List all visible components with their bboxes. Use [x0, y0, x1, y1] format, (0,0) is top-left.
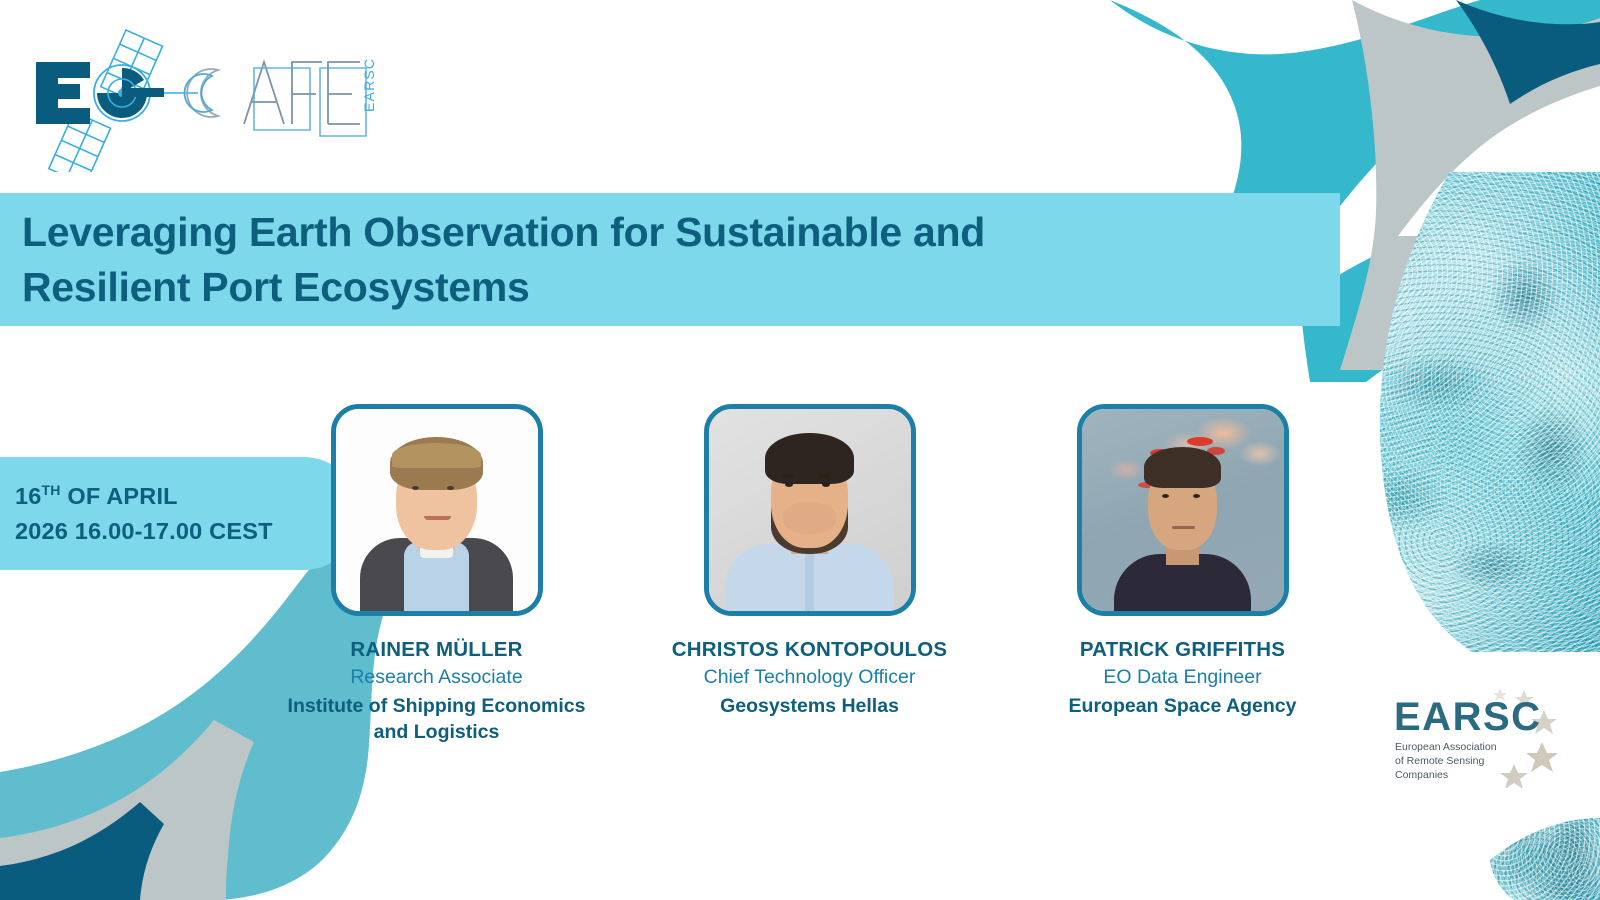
speaker-org-2: Geosystems Hellas	[720, 693, 899, 719]
logo-letters-cafe	[185, 62, 360, 124]
logo-earsc-vertical: EARSC	[361, 58, 377, 112]
speakers-row: RAINER MÜLLER Research Associate Institu…	[250, 404, 1370, 746]
earsc-tagline-line-1: European Association	[1395, 741, 1497, 753]
satellite-imagery-texture	[1332, 172, 1600, 652]
earsc-tagline-line-3: Companies	[1395, 769, 1448, 781]
wave-deepblue-top	[1456, 0, 1600, 104]
speaker-role-3: EO Data Engineer	[1103, 666, 1261, 689]
event-day-ordinal: TH	[42, 483, 61, 499]
speaker-card-3: PATRICK GRIFFITHS EO Data Engineer Europ…	[996, 404, 1369, 746]
speaker-org-3: European Space Agency	[1069, 693, 1297, 719]
speaker-name-1: RAINER MÜLLER	[350, 638, 522, 662]
speaker-role-2: Chief Technology Officer	[704, 666, 916, 689]
wave-grey-bottom	[0, 720, 254, 900]
eo-cafe-logo[interactable]: EARSC	[22, 12, 382, 172]
satellite-imagery-corner	[1490, 818, 1600, 900]
portrait-rainer-muller	[336, 409, 538, 611]
portrait-patrick-griffiths	[1082, 409, 1284, 611]
speaker-card-1: RAINER MÜLLER Research Associate Institu…	[250, 404, 623, 746]
earsc-logo[interactable]: EARSC European Association of Remote Sen…	[1392, 678, 1592, 788]
title-line-1: Leveraging Earth Observation for Sustain…	[22, 205, 1340, 259]
earsc-acronym: EARSC	[1394, 695, 1542, 739]
earsc-tagline-line-2: of Remote Sensing	[1395, 755, 1484, 767]
speaker-photo-frame-1	[331, 404, 543, 616]
speaker-card-2: CHRISTOS KONTOPOULOS Chief Technology Of…	[623, 404, 996, 746]
portrait-christos-kontopoulos	[709, 409, 911, 611]
speaker-photo-frame-2	[704, 404, 916, 616]
poster-canvas: EARSC Leveraging Earth Observation for S…	[0, 0, 1600, 900]
title-line-2: Resilient Port Ecosystems	[22, 260, 1340, 314]
speaker-org-1: Institute of Shipping Economics and Logi…	[272, 693, 602, 746]
event-day: 16	[15, 483, 42, 509]
event-month: OF APRIL	[61, 483, 178, 509]
speaker-name-2: CHRISTOS KONTOPOULOS	[672, 638, 947, 662]
webinar-title-banner: Leveraging Earth Observation for Sustain…	[0, 193, 1340, 326]
speaker-role-1: Research Associate	[350, 666, 522, 689]
logo-letter-e	[36, 62, 90, 124]
wave-deepblue-bottom	[0, 802, 164, 900]
speaker-photo-frame-3	[1077, 404, 1289, 616]
speaker-name-3: PATRICK GRIFFITHS	[1080, 638, 1285, 662]
